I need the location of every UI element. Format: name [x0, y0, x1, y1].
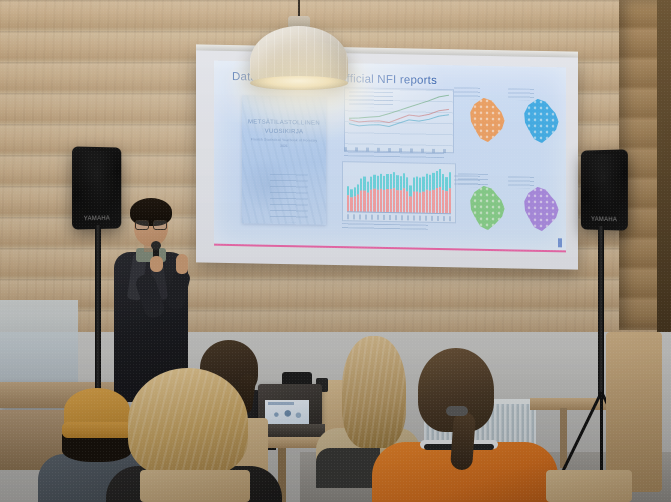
speaker-brand-right: YAMAHA: [591, 217, 617, 224]
bar-segment-top: [386, 174, 388, 189]
bar: [406, 177, 408, 212]
map-blue-caption: [508, 88, 534, 100]
bar: [445, 177, 447, 213]
bar-segment-top: [416, 176, 418, 191]
bar-segment-top: [413, 177, 415, 192]
lamp-rim-light: [250, 76, 348, 90]
bar-segment-bottom: [406, 192, 408, 213]
bar-segment-top: [363, 177, 365, 190]
bar-segment-bottom: [386, 189, 388, 212]
book-cover-image: METSÄTILASTOLLINEN VUOSIKIRJA Finnish St…: [242, 95, 326, 225]
map-purple-dots: [520, 187, 562, 234]
bar: [436, 171, 438, 213]
bar: [357, 184, 359, 211]
bar-segment-bottom: [360, 191, 362, 212]
bar-segment-top: [445, 177, 447, 192]
bar-segment-bottom: [347, 195, 349, 211]
bar-segment-top: [429, 175, 431, 191]
slide: Data ... results from official NFI repor…: [214, 61, 566, 253]
bar-segment-top: [439, 169, 441, 187]
bar: [429, 175, 431, 213]
bar: [363, 177, 365, 212]
map-blue: [520, 89, 562, 146]
bar-segment-top: [432, 173, 434, 190]
bar-segment-top: [400, 176, 402, 190]
line-chart-legend: [349, 91, 393, 108]
bar-segment-top: [377, 176, 379, 190]
presenter: [100, 196, 196, 396]
bar-segment-bottom: [390, 189, 392, 212]
bar: [422, 176, 424, 212]
map-green-caption: [454, 175, 480, 187]
bar-segment-bottom: [442, 190, 444, 213]
attendee-hair-texture: [128, 368, 248, 476]
bar-segment-top: [442, 174, 444, 190]
map-green-dots: [466, 186, 508, 233]
bar-segment-bottom: [350, 197, 352, 211]
bar-segment-bottom: [370, 190, 372, 212]
bar-segment-top: [347, 187, 349, 196]
bar: [380, 174, 382, 212]
bar: [367, 181, 369, 211]
bar-segment-bottom: [393, 188, 395, 212]
bar-segment-top: [436, 171, 438, 188]
bar-segment-bottom: [429, 191, 431, 213]
presenter-hand-left: [150, 256, 163, 272]
left-window-light: [0, 300, 78, 390]
bar-segment-bottom: [354, 196, 356, 211]
bar-segment-bottom: [380, 189, 382, 212]
bar-segment-bottom: [449, 189, 451, 214]
attendee-bag: [316, 448, 380, 488]
map-blue-dots: [520, 99, 562, 146]
microphone-head: [151, 241, 161, 250]
bar-chart: [342, 161, 456, 223]
bar-segment-bottom: [363, 190, 365, 211]
bar-segment-top: [422, 176, 424, 191]
bar-segment-top: [406, 177, 408, 191]
bar-segment-bottom: [413, 192, 415, 213]
bar-segment-top: [360, 178, 362, 190]
bar-segment-bottom: [357, 194, 359, 211]
attendee-orange-sweater: [390, 348, 550, 502]
bar-segment-top: [426, 174, 428, 190]
map-green: [466, 176, 508, 233]
speaker-stand-pole-right: [598, 226, 604, 396]
tripod-leg: [600, 392, 603, 478]
speaker-grille-right: [585, 153, 624, 214]
bar: [386, 174, 388, 212]
bar: [426, 174, 428, 213]
chair-right: [606, 332, 662, 492]
map-orange: [466, 88, 508, 145]
bar: [370, 176, 372, 212]
bar-segment-bottom: [426, 190, 428, 213]
bar: [442, 174, 444, 213]
bar-chart-xaxis-labels: [347, 214, 451, 221]
book-contents-lines: [270, 174, 308, 223]
laptop-screen-title: [268, 402, 294, 405]
bar-segment-bottom: [383, 190, 385, 212]
laptop-screen-thumbnails: [268, 408, 306, 420]
bar: [393, 172, 395, 212]
map-purple: [520, 177, 562, 234]
bar: [400, 176, 402, 212]
chair-foreground-left: [140, 470, 250, 502]
bar-segment-bottom: [396, 190, 398, 212]
bar-segment-bottom: [419, 192, 421, 212]
bar: [354, 188, 356, 212]
bar-segment-bottom: [373, 189, 375, 212]
bar: [449, 172, 451, 213]
bar-segment-top: [449, 172, 451, 189]
bar: [403, 173, 405, 212]
bar-segment-bottom: [445, 191, 447, 213]
bar-segment-bottom: [403, 189, 405, 213]
bar-segment-top: [383, 176, 385, 191]
bar-segment-top: [390, 174, 392, 190]
bar: [360, 178, 362, 211]
slide-corner-mark: [558, 238, 562, 247]
line-chart-caption: [344, 151, 444, 158]
bar-segment-bottom: [377, 190, 379, 212]
bar-segment-bottom: [436, 188, 438, 213]
glasses-icon: [135, 220, 167, 228]
bar-segment-top: [396, 175, 398, 190]
bar: [350, 190, 352, 212]
bar-segment-bottom: [409, 196, 411, 212]
bar: [432, 173, 434, 213]
bar-chart-caption: [342, 223, 428, 230]
bar: [416, 176, 418, 212]
bar-segment-bottom: [439, 187, 441, 213]
bar-segment-top: [350, 190, 352, 198]
bar-segment-top: [354, 188, 356, 197]
bar-segment-bottom: [400, 190, 402, 212]
bar: [419, 178, 421, 213]
bar-segment-bottom: [422, 191, 424, 212]
bar: [413, 177, 415, 213]
bar: [347, 187, 349, 212]
line-chart: [344, 87, 454, 153]
bar: [409, 185, 411, 212]
presentation-room-photo: Data ... results from official NFI repor…: [0, 0, 671, 502]
chair-foreground-right: [546, 470, 632, 502]
bar-segment-top: [373, 174, 375, 189]
bar: [396, 175, 398, 212]
bar-segment-top: [367, 181, 369, 192]
bar-segment-top: [419, 178, 421, 192]
bar-segment-top: [403, 173, 405, 189]
bar-segment-top: [357, 184, 359, 194]
bar-segment-bottom: [367, 193, 369, 212]
map-purple-caption: [508, 176, 534, 188]
attendee-ponytail: [450, 411, 476, 470]
bar-segment-bottom: [416, 191, 418, 212]
bar-segment-top: [370, 176, 372, 190]
bar: [377, 176, 379, 212]
bar: [390, 174, 392, 212]
map-orange-dots: [466, 98, 508, 145]
bar: [383, 176, 385, 212]
bar-chart-series: [347, 167, 451, 213]
bar: [373, 174, 375, 211]
bar-segment-bottom: [432, 190, 434, 213]
presenter-hand-right: [176, 254, 188, 274]
laptop-screen: [265, 400, 309, 424]
bar-segment-top: [393, 172, 395, 188]
pa-speaker-right: YAMAHA: [581, 149, 628, 230]
bar-segment-top: [380, 174, 382, 189]
bar: [439, 169, 441, 213]
bar-segment-top: [409, 185, 411, 196]
map-orange-caption: [454, 87, 480, 99]
hair-tie: [446, 406, 468, 416]
